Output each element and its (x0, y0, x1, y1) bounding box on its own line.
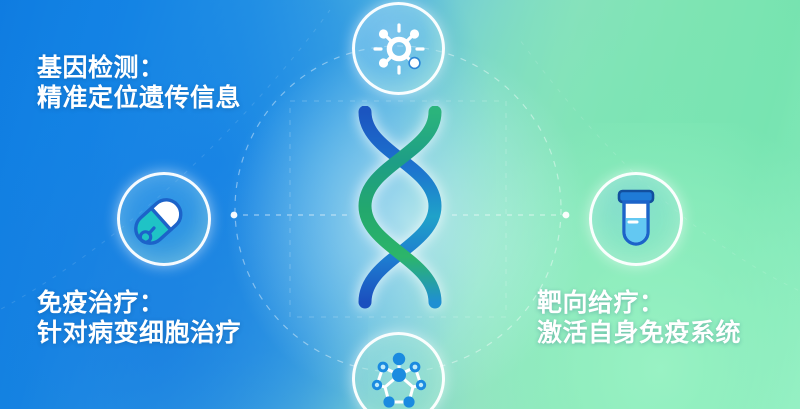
caption-gene-test: 基因检测： 精准定位遗传信息 (37, 53, 241, 113)
node-capsule-pill[interactable] (117, 172, 211, 266)
caption-immunotherapy-title: 免疫治疗： (37, 288, 241, 318)
dna-helix-icon (330, 106, 470, 311)
caption-gene-test-detail: 精准定位遗传信息 (37, 83, 241, 113)
node-test-tube[interactable] (589, 172, 683, 266)
caption-targeted-therapy-title: 靶向给疗： (537, 288, 741, 318)
caption-immunotherapy: 免疫治疗： 针对病变细胞治疗 (37, 288, 241, 348)
molecule-network-icon (367, 347, 431, 409)
caption-immunotherapy-detail: 针对病变细胞治疗 (37, 318, 241, 348)
infographic-canvas: 基因检测： 精准定位遗传信息 免疫治疗： 针对病变细胞治疗 靶向给疗： 激活自身… (0, 0, 800, 409)
virus-cell-icon (370, 20, 428, 78)
caption-gene-test-title: 基因检测： (37, 53, 241, 83)
caption-targeted-therapy: 靶向给疗： 激活自身免疫系统 (537, 288, 741, 348)
test-tube-icon (608, 188, 664, 250)
capsule-pill-icon (134, 189, 194, 249)
caption-targeted-therapy-detail: 激活自身免疫系统 (537, 318, 741, 348)
node-virus-cell[interactable] (352, 2, 445, 95)
